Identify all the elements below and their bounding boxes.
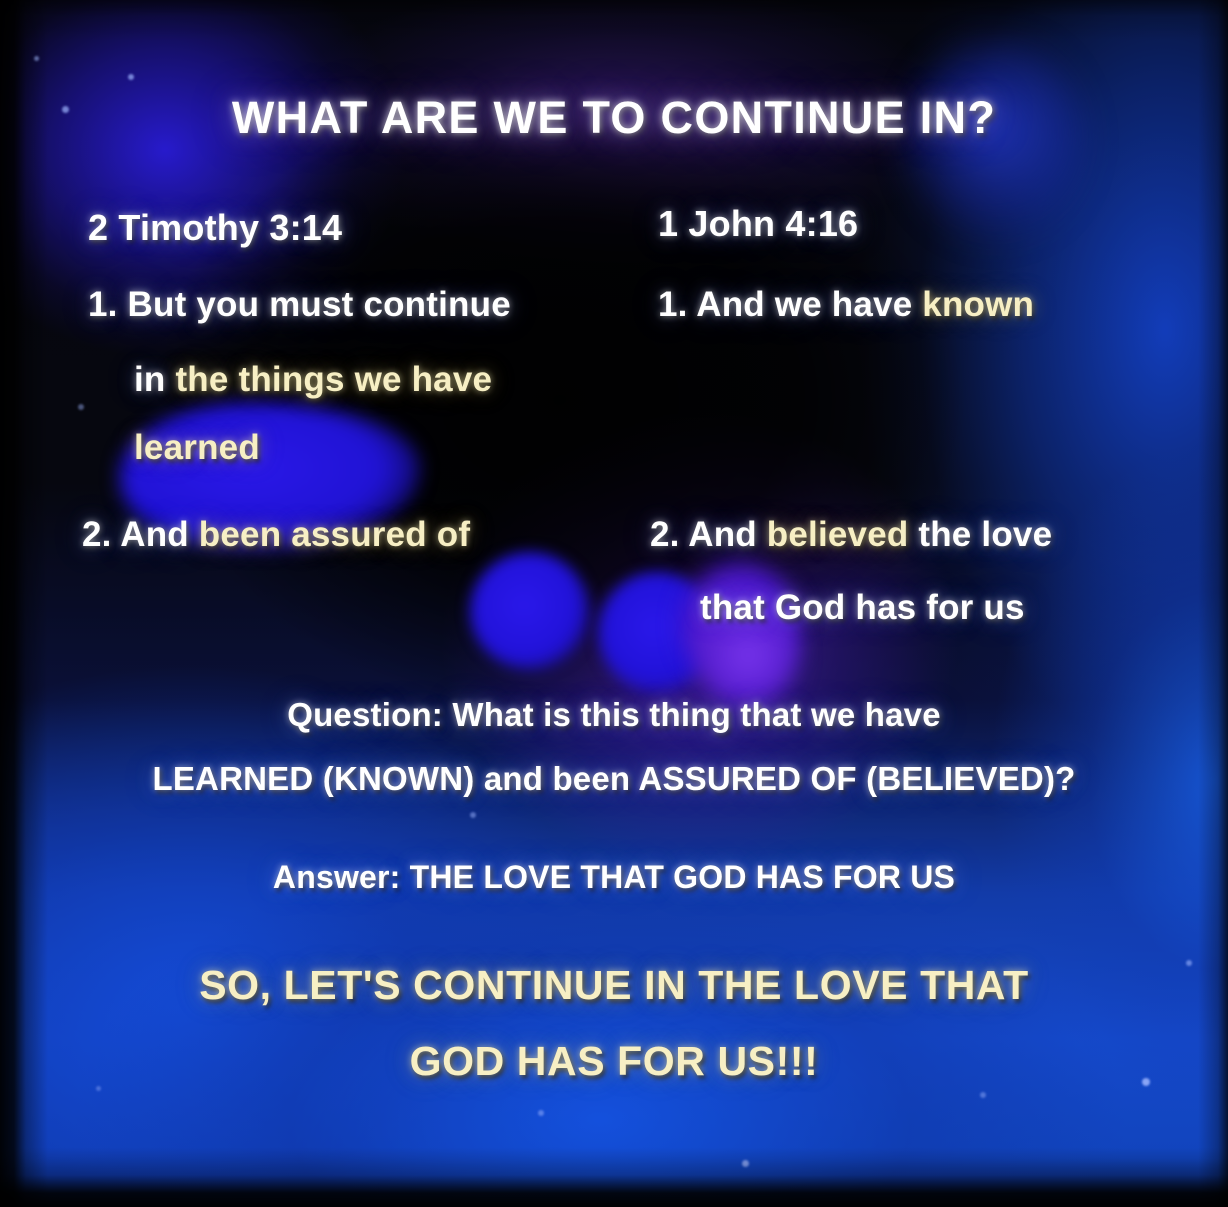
left-point-1-line-2-white: in — [134, 360, 175, 399]
right-point-1-emphasis: known — [922, 285, 1034, 324]
conclusion-line-1: SO, LET'S CONTINUE IN THE LOVE THAT — [0, 962, 1228, 1009]
presentation-slide: WHAT ARE WE TO CONTINUE IN? 2 Timothy 3:… — [0, 0, 1228, 1207]
right-point-1: 1. And we have known — [658, 285, 1034, 325]
scripture-reference-right: 1 John 4:16 — [658, 203, 858, 245]
right-point-2-white-prefix: 2. And — [650, 515, 767, 554]
conclusion-line-2: GOD HAS FOR US!!! — [0, 1038, 1228, 1085]
answer-line: Answer: THE LOVE THAT GOD HAS FOR US — [0, 859, 1228, 896]
question-line-1: Question: What is this thing that we hav… — [0, 696, 1228, 734]
question-line-2: LEARNED (KNOWN) and been ASSURED OF (BEL… — [0, 760, 1228, 798]
left-point-1-line-1: 1. But you must continue — [88, 285, 511, 325]
slide-title: WHAT ARE WE TO CONTINUE IN? — [0, 92, 1228, 144]
right-point-2-white-suffix: the love — [908, 515, 1052, 554]
left-point-1-line-2: in the things we have — [134, 360, 492, 400]
right-point-1-white: 1. And we have — [658, 285, 922, 324]
right-point-2-line-1: 2. And believed the love — [650, 515, 1052, 555]
right-point-2-line-2: that God has for us — [700, 588, 1025, 628]
left-point-2: 2. And been assured of — [82, 515, 470, 555]
slide-content: WHAT ARE WE TO CONTINUE IN? 2 Timothy 3:… — [0, 0, 1228, 1207]
right-point-2-emphasis: believed — [767, 515, 909, 554]
left-point-2-emphasis: been assured of — [199, 515, 470, 554]
left-point-1-line-2-emphasis: the things we have — [175, 360, 492, 399]
scripture-reference-left: 2 Timothy 3:14 — [88, 207, 342, 249]
left-point-2-white: 2. And — [82, 515, 199, 554]
left-point-1-line-3-emphasis: learned — [134, 428, 260, 468]
